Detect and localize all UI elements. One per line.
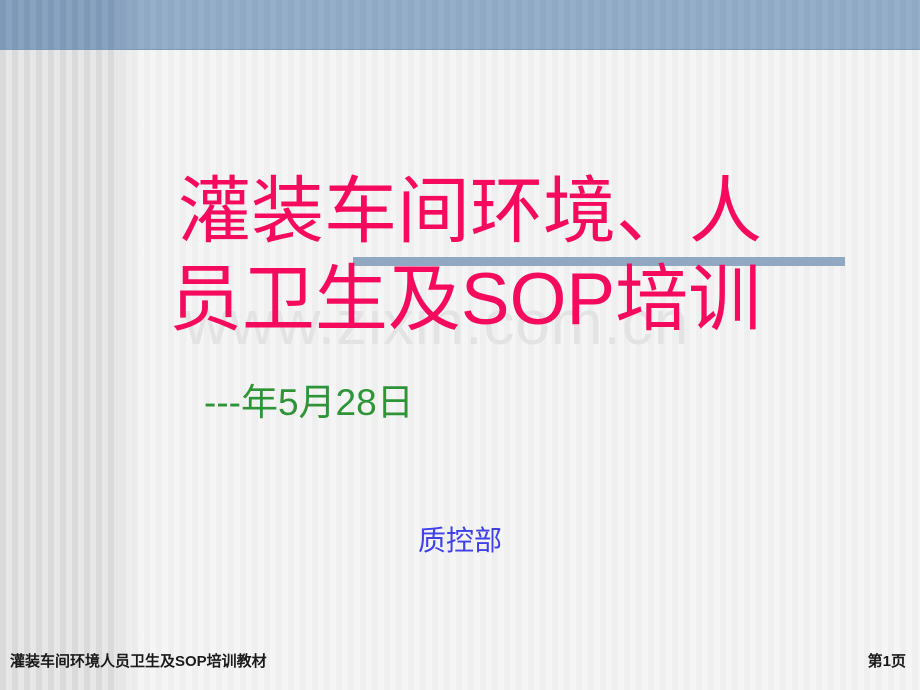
slide-date: ---年5月28日 [204,381,414,425]
slide-title: 灌装车间环境、人 员卫生及SOP培训 [0,168,920,344]
presentation-slide: www.zixin.com.cn 灌装车间环境、人 员卫生及SOP培训 ---年… [0,0,920,690]
slide-header-bottom-edge [0,49,920,50]
footer-page-number: 第1页 [868,652,906,672]
slide-header-band-left-accent [0,0,116,50]
slide-department: 质控部 [0,524,920,558]
slide-background-left-accent-stripes [0,0,116,690]
slide-title-line-1: 灌装车间环境、人 [0,168,920,256]
slide-header-band [0,0,920,50]
footer-document-title: 灌装车间环境人员卫生及SOP培训教材 [10,652,267,672]
slide-title-line-2: 员卫生及SOP培训 [0,256,920,344]
